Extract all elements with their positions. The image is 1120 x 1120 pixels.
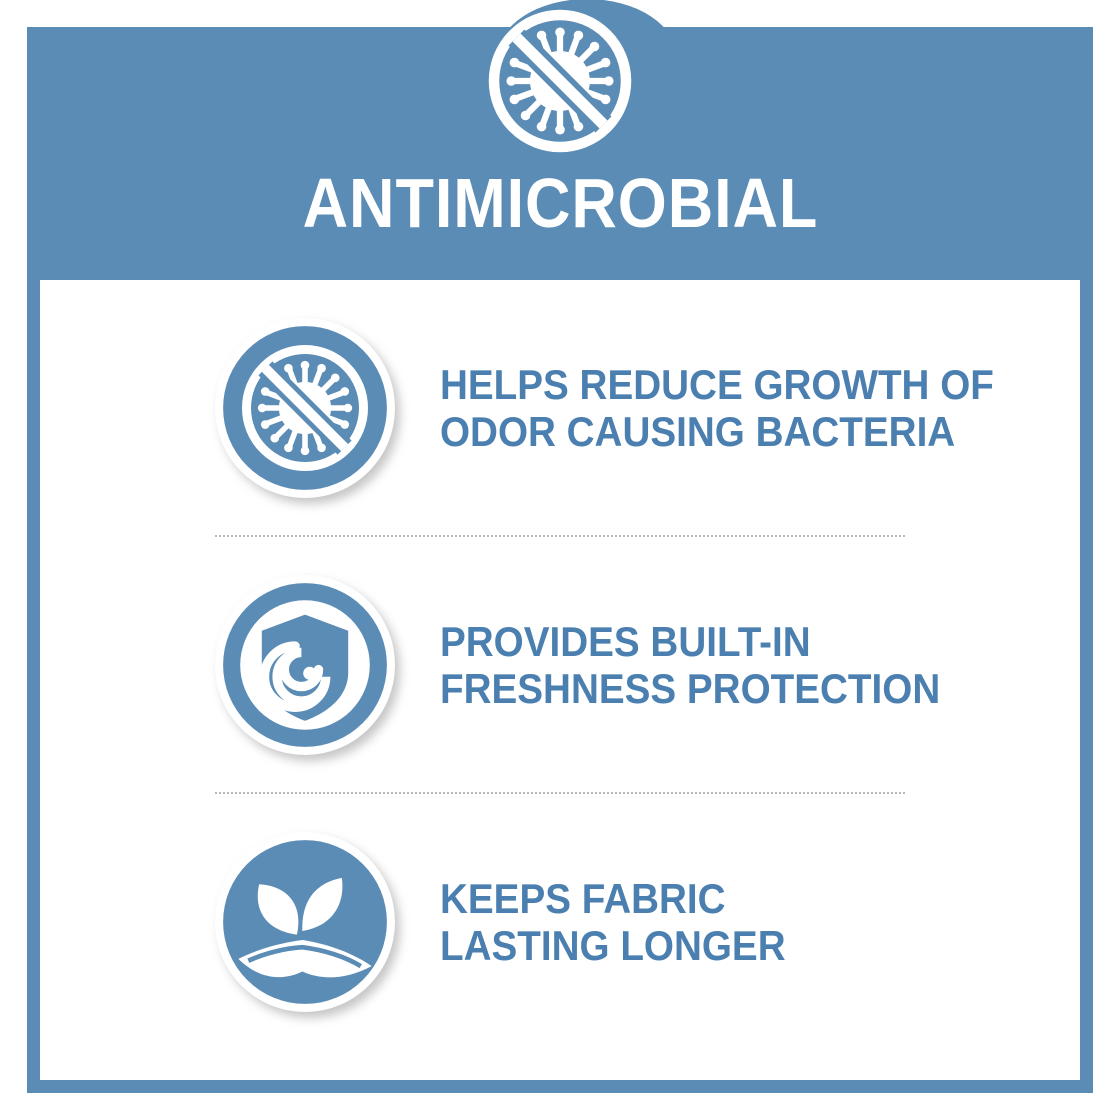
- shield-freshness-icon: [215, 575, 395, 755]
- list-item-label: HELPS REDUCE GROWTH OF ODOR CAUSING BACT…: [440, 361, 994, 455]
- list-item[interactable]: KEEPS FABRIC LASTING LONGER: [40, 794, 1080, 1049]
- list-item[interactable]: HELPS REDUCE GROWTH OF ODOR CAUSING BACT…: [40, 280, 1080, 535]
- leaf-sprout-fabric-icon: [215, 832, 395, 1012]
- list-item-label: KEEPS FABRIC LASTING LONGER: [440, 875, 786, 969]
- no-bacteria-icon: [485, 6, 635, 156]
- content-panel: HELPS REDUCE GROWTH OF ODOR CAUSING BACT…: [40, 280, 1080, 1080]
- page-title: ANTIMICROBIAL: [302, 168, 818, 238]
- no-bacteria-icon: [215, 318, 395, 498]
- list-item-label: PROVIDES BUILT-IN FRESHNESS PROTECTION: [440, 618, 940, 712]
- feature-list: HELPS REDUCE GROWTH OF ODOR CAUSING BACT…: [40, 280, 1080, 1080]
- list-item[interactable]: PROVIDES BUILT-IN FRESHNESS PROTECTION: [40, 537, 1080, 792]
- infographic-page: ANTIMICROBIAL: [0, 0, 1120, 1120]
- header: ANTIMICROBIAL: [27, 0, 1093, 280]
